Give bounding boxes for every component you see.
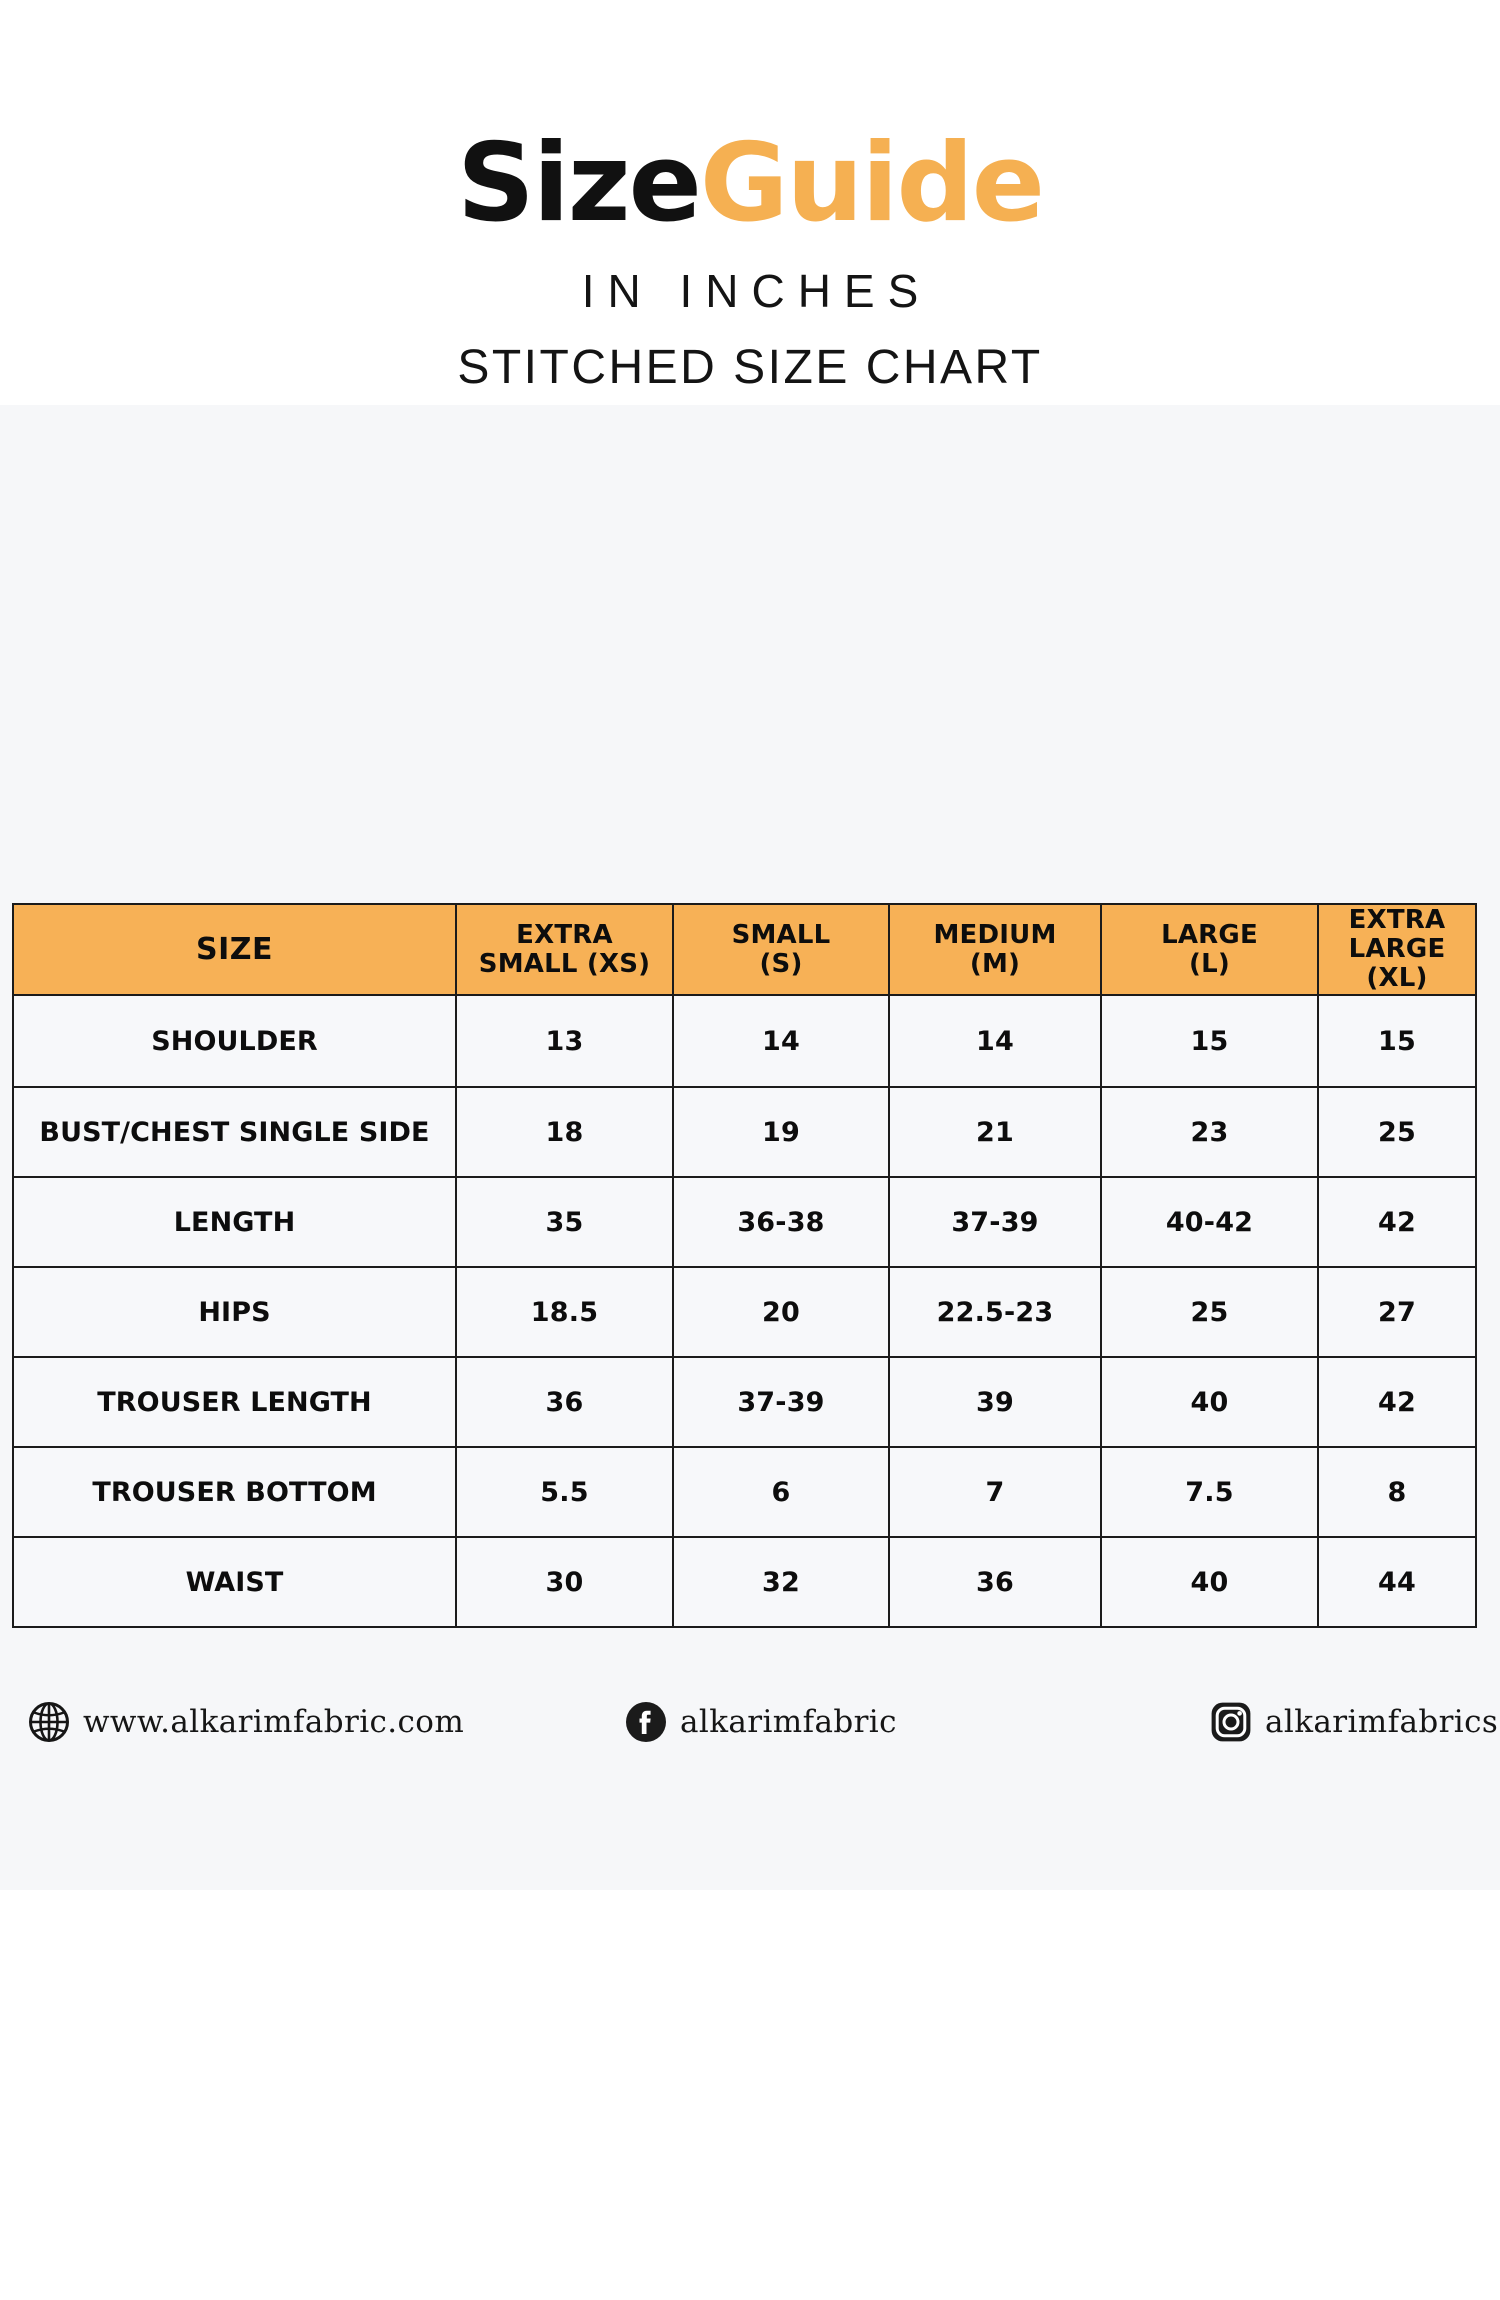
row-label-trouser-length: TROUSER LENGTH [13,1357,456,1447]
header-s-line2: (S) [759,949,802,979]
instagram-link[interactable]: alkarimfabrics [1210,1701,1498,1743]
title-block: SizeGuide IN INCHES STITCHED SIZE CHART [0,130,1500,395]
cell-shoulder-l: 15 [1101,995,1318,1087]
table-header-row: SIZE EXTRA SMALL (XS) SMALL (S) MEDIUM (… [13,904,1476,995]
header-cell-l: LARGE (L) [1101,904,1318,995]
cell-trouser-length-s: 37-39 [673,1357,889,1447]
header-xl-line1: EXTRA LARGE [1349,905,1446,964]
header-m-line1: MEDIUM [933,920,1056,950]
table-row: LENGTH 35 36-38 37-39 40-42 42 [13,1177,1476,1267]
table-row: BUST/CHEST SINGLE SIDE 18 19 21 23 25 [13,1087,1476,1177]
cell-bust-xs: 18 [456,1087,673,1177]
cell-hips-s: 20 [673,1267,889,1357]
row-label-trouser-bottom: TROUSER BOTTOM [13,1447,456,1537]
row-label-length: LENGTH [13,1177,456,1267]
header-cell-xl: EXTRA LARGE (XL) [1318,904,1476,995]
table-row: SHOULDER 13 14 14 15 15 [13,995,1476,1087]
title-word-guide: Guide [700,121,1043,246]
cell-length-l: 40-42 [1101,1177,1318,1267]
title-word-size: Size [457,121,700,246]
facebook-icon [625,1701,667,1743]
instagram-icon [1210,1701,1252,1743]
cell-trouser-bottom-xs: 5.5 [456,1447,673,1537]
table-row: WAIST 30 32 36 40 44 [13,1537,1476,1627]
cell-length-xs: 35 [456,1177,673,1267]
instagram-label: alkarimfabrics [1265,1704,1498,1740]
cell-waist-xs: 30 [456,1537,673,1627]
cell-shoulder-xl: 15 [1318,995,1476,1087]
cell-hips-l: 25 [1101,1267,1318,1357]
cell-hips-xs: 18.5 [456,1267,673,1357]
cell-length-m: 37-39 [889,1177,1101,1267]
size-chart-table: SIZE EXTRA SMALL (XS) SMALL (S) MEDIUM (… [12,903,1477,1628]
cell-waist-s: 32 [673,1537,889,1627]
cell-length-s: 36-38 [673,1177,889,1267]
subtitle-chart-type: STITCHED SIZE CHART [0,340,1500,395]
cell-hips-xl: 27 [1318,1267,1476,1357]
cell-hips-m: 22.5-23 [889,1267,1101,1357]
cell-bust-xl: 25 [1318,1087,1476,1177]
header-s-line1: SMALL [732,920,831,950]
page-title: SizeGuide [0,130,1500,238]
cell-waist-l: 40 [1101,1537,1318,1627]
header-size-line1: SIZE [196,932,273,967]
cell-trouser-bottom-xl: 8 [1318,1447,1476,1537]
facebook-label: alkarimfabric [680,1704,897,1740]
cell-trouser-bottom-l: 7.5 [1101,1447,1318,1537]
cell-bust-s: 19 [673,1087,889,1177]
table-body: SHOULDER 13 14 14 15 15 BUST/CHEST SINGL… [13,995,1476,1627]
size-chart-table-wrapper: SIZE EXTRA SMALL (XS) SMALL (S) MEDIUM (… [12,903,1475,1628]
header-xs-line2: SMALL (XS) [479,949,650,979]
cell-trouser-length-xs: 36 [456,1357,673,1447]
cell-trouser-length-m: 39 [889,1357,1101,1447]
row-label-waist: WAIST [13,1537,456,1627]
subtitle-units: IN INCHES [0,264,1500,318]
size-guide-page: SizeGuide IN INCHES STITCHED SIZE CHART … [0,0,1500,2300]
table-row: TROUSER BOTTOM 5.5 6 7 7.5 8 [13,1447,1476,1537]
cell-waist-m: 36 [889,1537,1101,1627]
cell-trouser-length-xl: 42 [1318,1357,1476,1447]
header-cell-m: MEDIUM (M) [889,904,1101,995]
facebook-link[interactable]: alkarimfabric [625,1701,897,1743]
footer-social-row: www.alkarimfabric.com alkarimfabric alka… [0,1695,1500,1775]
header-xs-line1: EXTRA [516,920,613,950]
website-label: www.alkarimfabric.com [83,1704,464,1740]
cell-shoulder-xs: 13 [456,995,673,1087]
header-l-line2: (L) [1189,949,1230,979]
row-label-shoulder: SHOULDER [13,995,456,1087]
table-row: TROUSER LENGTH 36 37-39 39 40 42 [13,1357,1476,1447]
row-label-hips: HIPS [13,1267,456,1357]
row-label-bust-chest-single-side: BUST/CHEST SINGLE SIDE [13,1087,456,1177]
header-cell-s: SMALL (S) [673,904,889,995]
cell-shoulder-s: 14 [673,995,889,1087]
cell-waist-xl: 44 [1318,1537,1476,1627]
header-cell-size: SIZE [13,904,456,995]
table-header: SIZE EXTRA SMALL (XS) SMALL (S) MEDIUM (… [13,904,1476,995]
cell-shoulder-m: 14 [889,995,1101,1087]
header-m-line2: (M) [970,949,1020,979]
header-cell-xs: EXTRA SMALL (XS) [456,904,673,995]
header-l-line1: LARGE [1161,920,1258,950]
header-xl-line2: (XL) [1366,963,1427,993]
cell-trouser-bottom-s: 6 [673,1447,889,1537]
globe-icon [28,1701,70,1743]
cell-trouser-length-l: 40 [1101,1357,1318,1447]
cell-length-xl: 42 [1318,1177,1476,1267]
website-link[interactable]: www.alkarimfabric.com [28,1701,464,1743]
cell-bust-m: 21 [889,1087,1101,1177]
cell-trouser-bottom-m: 7 [889,1447,1101,1537]
cell-bust-l: 23 [1101,1087,1318,1177]
table-row: HIPS 18.5 20 22.5-23 25 27 [13,1267,1476,1357]
